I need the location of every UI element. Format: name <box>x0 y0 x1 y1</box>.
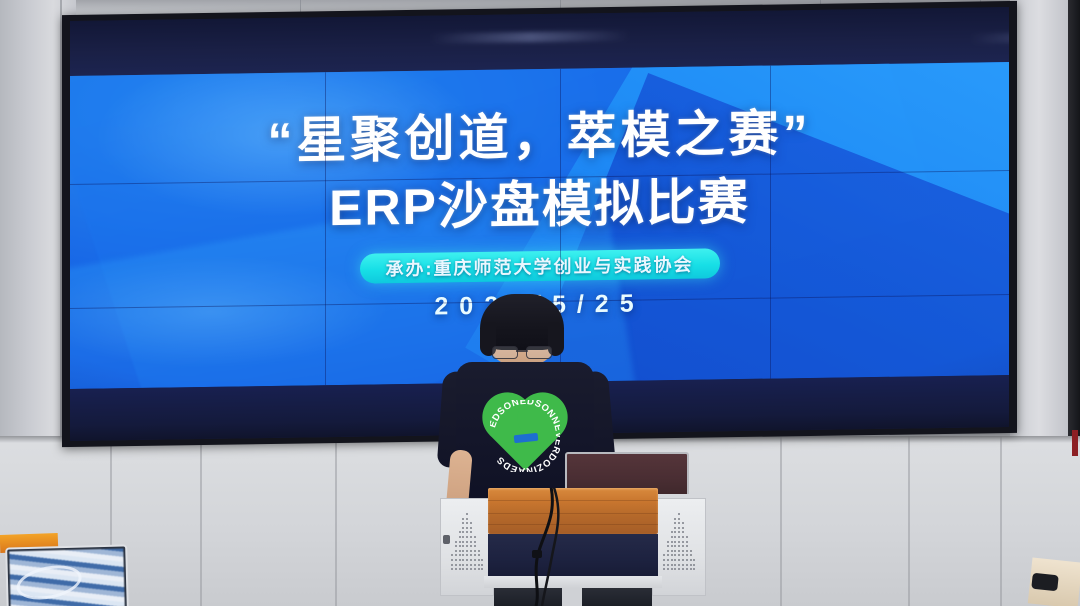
foreground-right-dark-object <box>1031 573 1059 592</box>
tshirt-ring-text: EDSONEDSONNEVERDOZINAEDS <box>490 400 560 472</box>
glasses-lens-right <box>526 346 552 359</box>
svg-text:EDSONEDSONNEVERDOZINAEDS: EDSONEDSONNEVERDOZINAEDS <box>490 400 560 472</box>
wall-panel-seam <box>908 436 910 606</box>
presentation-photo-scene: “星聚创道，萃模之赛” ERP沙盘模拟比赛 承办:重庆师范大学创业与实践协会 2… <box>0 0 1080 606</box>
tshirt-heart-graphic: EDSONEDSONNEVERDOZINAEDS <box>490 400 560 472</box>
wall-panel-seam <box>780 436 782 606</box>
glasses-lens-left <box>492 346 518 359</box>
lectern[interactable] <box>440 488 706 606</box>
power-cable <box>440 488 706 606</box>
foreground-laptop[interactable] <box>5 544 129 606</box>
foreground-red-sliver <box>1072 430 1078 456</box>
glasses <box>492 346 552 357</box>
cable-clip <box>532 550 542 558</box>
wall-panel-seam <box>200 436 202 606</box>
wall-panel-seam <box>1000 436 1002 606</box>
wall-panel-seam <box>335 436 337 606</box>
